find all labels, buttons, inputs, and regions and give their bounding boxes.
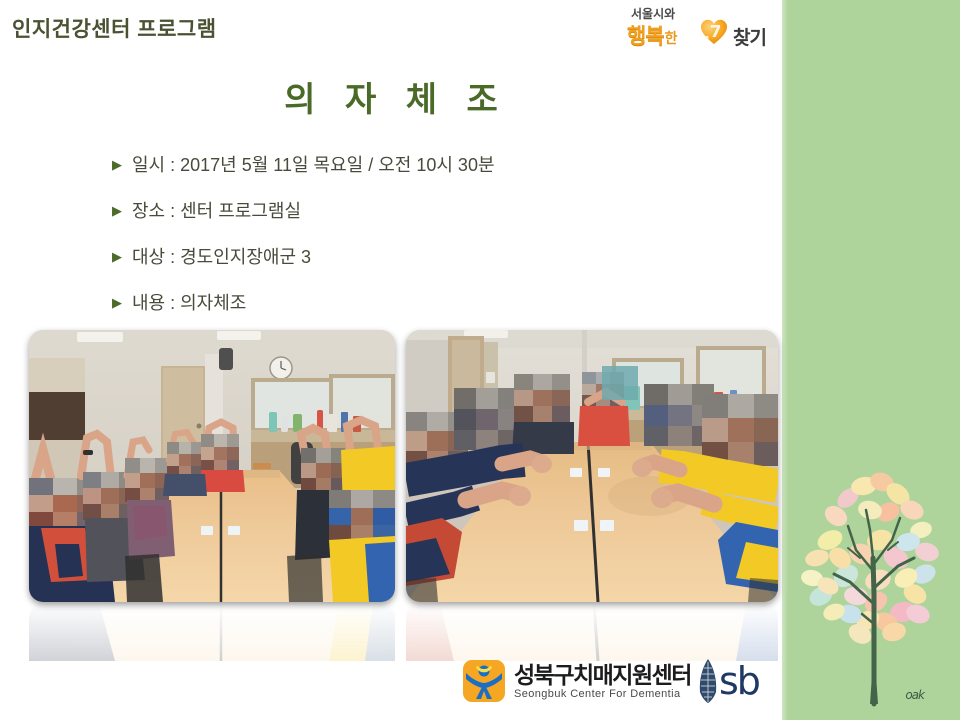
info-bullet-list: ▶ 일시 : 2017년 5월 11일 목요일 / 오전 10시 30분 ▶ 장… bbox=[112, 152, 752, 336]
triangle-bullet-icon: ▶ bbox=[112, 152, 132, 178]
heart-icon bbox=[699, 17, 729, 45]
activity-photo-right bbox=[406, 330, 778, 602]
list-item-label: 일시 : 2017년 5월 11일 목요일 / 오전 10시 30분 bbox=[132, 152, 495, 178]
feather-icon bbox=[697, 658, 719, 704]
list-item: ▶ 대상 : 경도인지장애군 3 bbox=[112, 244, 752, 290]
footer-name-english: Seongbuk Center For Dementia bbox=[514, 688, 691, 701]
seoul-logo-happy-suffix: 한 bbox=[665, 28, 678, 48]
sb-logotype: sb bbox=[719, 662, 759, 700]
page-title: 의 자 체 조 bbox=[0, 72, 782, 121]
activity-photo-left bbox=[29, 330, 395, 602]
side-panel-edge-gradient bbox=[782, 0, 788, 720]
seongbuk-center-mark-icon bbox=[462, 659, 506, 703]
triangle-bullet-icon: ▶ bbox=[112, 198, 132, 224]
list-item-label: 대상 : 경도인지장애군 3 bbox=[132, 244, 311, 270]
artist-signature: oak bbox=[905, 688, 924, 702]
photo-right-reflection bbox=[406, 603, 778, 661]
slide-canvas: oak 인지건강센터 프로그램 서울시와 행복 한 찾기 의 자 체 조 bbox=[0, 0, 960, 720]
triangle-bullet-icon: ▶ bbox=[112, 244, 132, 270]
footer-name-korean: 성북구치매지원센터 bbox=[514, 662, 691, 688]
seoul-logo-find: 찾기 bbox=[733, 23, 766, 50]
page-header-label: 인지건강센터 프로그램 bbox=[12, 13, 217, 43]
list-item-label: 내용 : 의자체조 bbox=[132, 290, 246, 316]
side-decoration-panel: oak bbox=[782, 0, 960, 720]
list-item: ▶ 장소 : 센터 프로그램실 bbox=[112, 198, 752, 244]
list-item-label: 장소 : 센터 프로그램실 bbox=[132, 198, 301, 224]
sb-brand-group: sb bbox=[697, 658, 759, 704]
seoul-happy-logo: 서울시와 행복 한 찾기 bbox=[627, 5, 782, 53]
footer-center-name: 성북구치매지원센터 Seongbuk Center For Dementia bbox=[514, 662, 691, 701]
list-item: ▶ 일시 : 2017년 5월 11일 목요일 / 오전 10시 30분 bbox=[112, 152, 752, 198]
tree-icon bbox=[790, 454, 952, 712]
photo-left-reflection bbox=[29, 603, 395, 661]
footer-organization-logo: 성북구치매지원센터 Seongbuk Center For Dementia s… bbox=[462, 655, 759, 707]
seoul-logo-happy: 행복 bbox=[627, 20, 664, 50]
seoul-logo-line2: 행복 한 bbox=[627, 20, 678, 50]
triangle-bullet-icon: ▶ bbox=[112, 290, 132, 316]
